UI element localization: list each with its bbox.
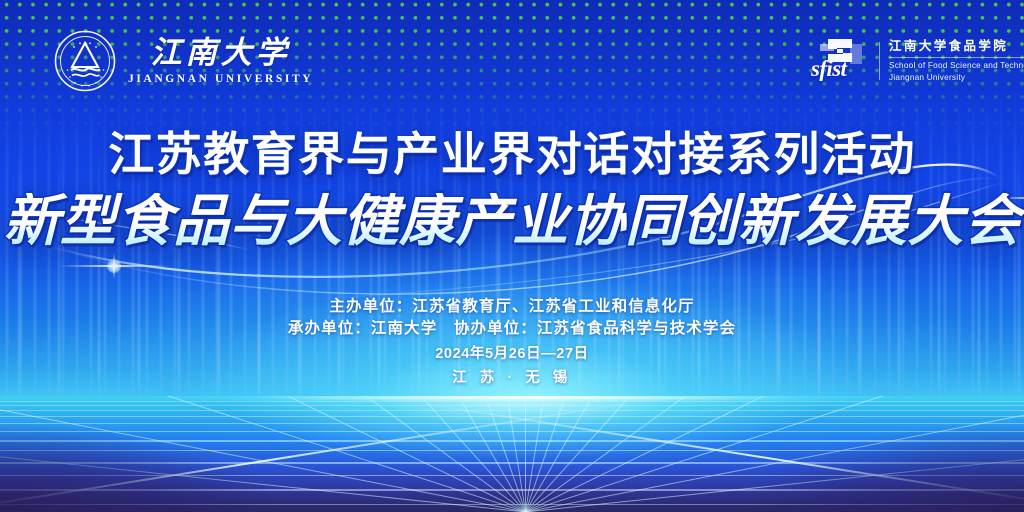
banner-title-line1: 江苏教育界与产业界对话对接系列活动 — [0, 131, 1024, 177]
perspective-grid-floor — [0, 396, 1024, 512]
school-name-rule — [889, 57, 1024, 58]
sfist-mark-icon: sfist — [812, 38, 870, 84]
ground-shadow-left — [0, 396, 380, 512]
food-science-school-logo: sfist 江南大学食品学院 School of Food Science an… — [812, 38, 1024, 84]
logo-divider — [879, 42, 880, 80]
ground-shadow-right — [644, 396, 1024, 512]
school-name-en-line1: School of Food Science and Technology — [889, 60, 1024, 71]
dates-line: 2024年5月26日—27日 — [0, 342, 1024, 366]
banner-info-block: 主办单位：江苏省教育厅、江苏省工业和信息化厅 承办单位：江南大学 协办单位：江苏… — [0, 296, 1024, 390]
school-name-cn: 江南大学食品学院 — [889, 39, 1024, 55]
hosts-line: 承办单位：江南大学 协办单位：江苏省食品科学与技术学会 — [0, 318, 1024, 340]
sfist-wordmark: sfist — [811, 57, 871, 80]
jiangnan-university-seal-icon — [54, 30, 116, 92]
university-name-cn: 江南大学 — [151, 37, 291, 69]
location-line: 江 苏 · 无 锡 — [0, 366, 1024, 390]
horizon-glow — [0, 396, 1024, 405]
university-name-en: JIANGNAN UNIVERSITY — [128, 72, 313, 85]
banner-title-line2: 新型食品与大健康产业协同创新发展大会 — [0, 193, 1024, 249]
jiangnan-university-logo: 江南大学 JIANGNAN UNIVERSITY — [54, 30, 313, 92]
conference-banner: 江南大学 JIANGNAN UNIVERSITY sfist 江南大学食品学院 … — [0, 0, 1024, 512]
organizer-line: 主办单位：江苏省教育厅、江苏省工业和信息化厅 — [0, 296, 1024, 318]
school-name-en-line2: Jiangnan University — [889, 72, 1024, 83]
